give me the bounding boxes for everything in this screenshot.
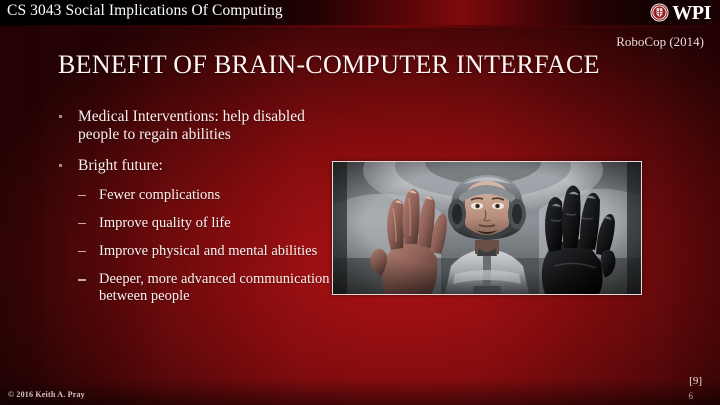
bullet-dash-icon xyxy=(78,279,86,280)
wpi-seal-icon xyxy=(650,3,669,22)
list-item-label: Fewer complications xyxy=(99,187,220,203)
course-title: CS 3043 Social Implications Of Computing xyxy=(7,2,283,20)
slide-footer-bar xyxy=(0,379,720,405)
slide-header-underline xyxy=(0,25,720,28)
bullet-dash-icon xyxy=(78,251,86,252)
wpi-logo: WPI xyxy=(650,1,711,24)
page-title: BENEFIT OF BRAIN-COMPUTER INTERFACE xyxy=(58,50,600,80)
copyright-notice: © 2016 Keith A. Pray xyxy=(8,390,85,399)
slide-number: 6 xyxy=(689,391,694,401)
list-item-label: Improve physical and mental abilities xyxy=(99,243,317,259)
bullet-sublist: Fewer complications Improve quality of l… xyxy=(76,187,346,306)
bullet-dash-icon xyxy=(78,223,86,224)
list-item: Deeper, more advanced communication betw… xyxy=(76,271,346,305)
robocop-film-still xyxy=(332,161,642,295)
list-item: Bright future: xyxy=(56,157,346,175)
bullet-list: Medical Interventions: help disabled peo… xyxy=(56,108,346,316)
bullet-dash-icon xyxy=(78,195,86,196)
list-item: Medical Interventions: help disabled peo… xyxy=(56,108,346,145)
list-item: Improve quality of life xyxy=(76,215,346,232)
list-item-label: Deeper, more advanced communication betw… xyxy=(99,271,330,304)
bullet-dot-icon xyxy=(59,115,62,118)
wpi-wordmark: WPI xyxy=(672,3,711,23)
list-item-label: Bright future: xyxy=(78,157,163,174)
source-credit: RoboCop (2014) xyxy=(616,34,704,50)
citation-reference: [9] xyxy=(689,375,702,387)
list-item: Fewer complications xyxy=(76,187,346,204)
list-item: Improve physical and mental abilities xyxy=(76,243,346,260)
list-item-label: Improve quality of life xyxy=(99,215,231,231)
bullet-dot-icon xyxy=(59,164,62,167)
list-item-label: Medical Interventions: help disabled peo… xyxy=(78,108,305,143)
presentation-slide: CS 3043 Social Implications Of Computing… xyxy=(0,0,720,405)
